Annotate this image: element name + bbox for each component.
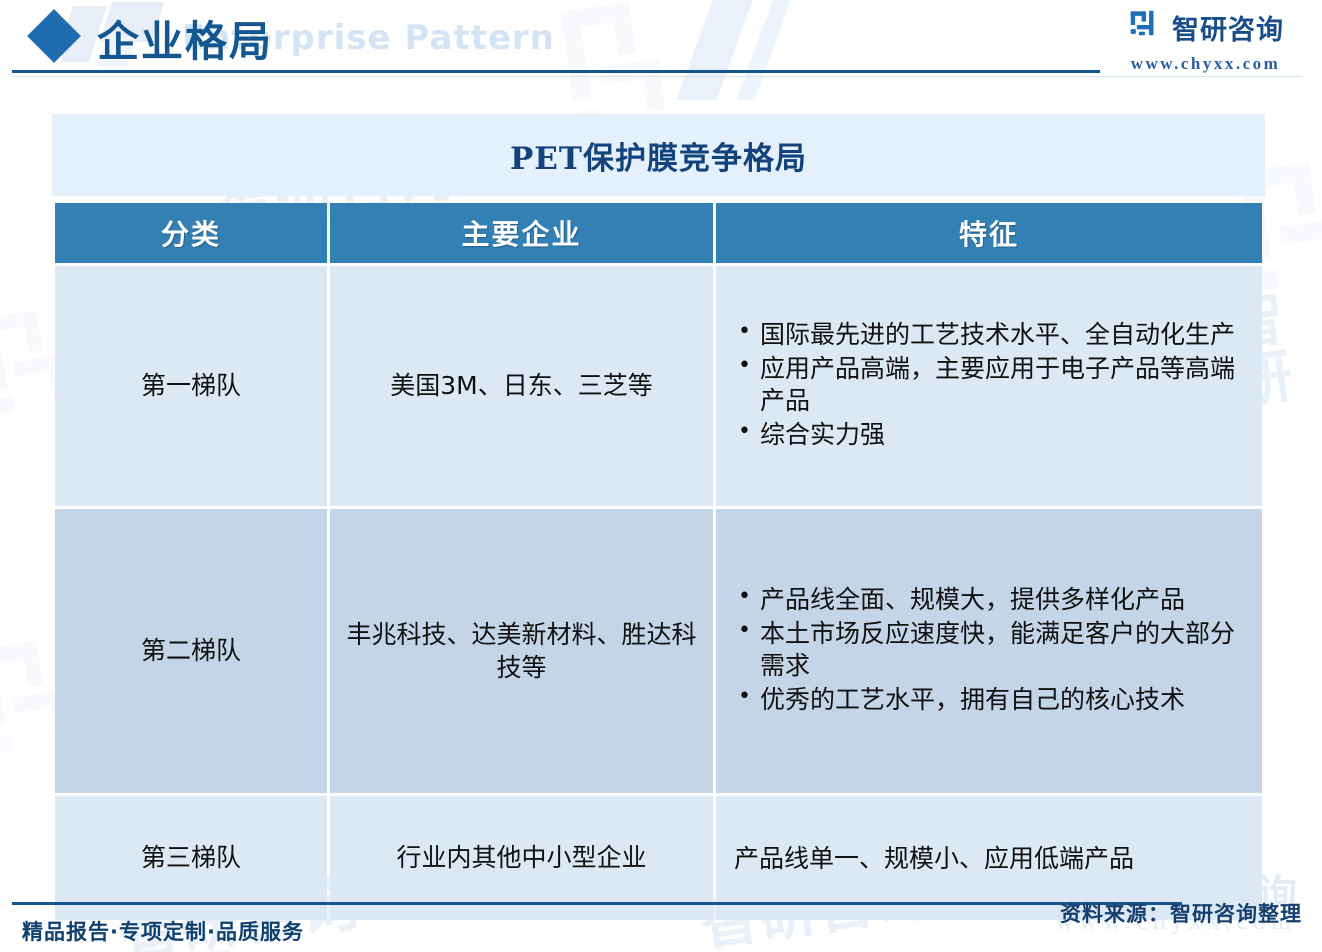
brand-url: www.chyxx.com [1127,54,1284,74]
cell-features: 产品线全面、规模大，提供多样化产品 本土市场反应速度快，能满足客户的大部分需求 … [716,509,1262,793]
cell-tier: 第二梯队 [55,509,327,793]
feature-item: 优秀的工艺水平，拥有自己的核心技术 [760,684,1244,717]
brand-block: 智研咨询 www.chyxx.com [1127,8,1284,74]
feature-item: 本土市场反应速度快，能满足客户的大部分需求 [760,618,1244,683]
table-title: PET保护膜竞争格局 [52,114,1265,196]
feature-item: 综合实力强 [760,419,1244,452]
chyxx-logo-icon [1127,8,1163,47]
competitive-landscape-table: 分类 主要企业 特征 第一梯队 美国3M、日东、三芝等 国际最先进的工艺技术水平… [52,200,1265,923]
page-title: 企业格局 [97,8,273,69]
footer-source: 资料来源：智研咨询整理 [1060,898,1302,928]
column-header-companies: 主要企业 [330,203,713,263]
header-divider-soft [12,76,1302,77]
brand-name: 智研咨询 [1172,8,1284,47]
cell-tier: 第一梯队 [55,266,327,506]
column-header-category: 分类 [55,203,327,263]
footer-tagline: 精品报告·专项定制·品质服务 [22,916,304,946]
feature-item: 应用产品高端，主要应用于电子产品等高端产品 [760,353,1244,418]
table-row: 第二梯队 丰兆科技、达美新材料、胜达科技等 产品线全面、规模大，提供多样化产品 … [55,509,1262,793]
cell-companies: 美国3M、日东、三芝等 [330,266,713,506]
header-divider [12,70,1100,73]
table-header-row: 分类 主要企业 特征 [55,203,1262,263]
cell-companies: 丰兆科技、达美新材料、胜达科技等 [330,509,713,793]
table-row: 第一梯队 美国3M、日东、三芝等 国际最先进的工艺技术水平、全自动化生产 应用产… [55,266,1262,506]
feature-item: 国际最先进的工艺技术水平、全自动化生产 [760,319,1244,352]
column-header-features: 特征 [716,203,1262,263]
page-header: Enterprise Pattern 企业格局 [0,0,1322,88]
cell-features: 国际最先进的工艺技术水平、全自动化生产 应用产品高端，主要应用于电子产品等高端产… [716,266,1262,506]
footer-divider [12,902,1182,905]
feature-item: 产品线全面、规模大，提供多样化产品 [760,584,1244,617]
competitive-landscape-table-block: PET保护膜竞争格局 分类 主要企业 特征 第一梯队 美国3M、日东、三芝等 国… [52,114,1265,923]
